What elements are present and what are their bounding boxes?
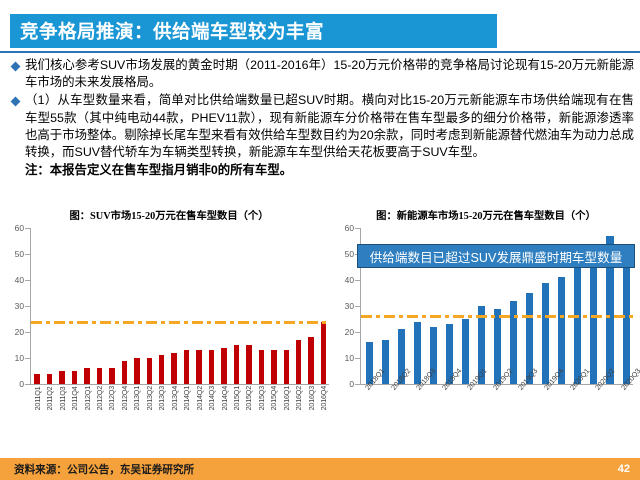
bar-column — [143, 228, 155, 384]
slide-root: 竞争格局推演：供给端车型较为丰富 我们核心参考SUV市场发展的黄金时期（2011… — [0, 0, 640, 480]
x-label-cell: 2015Q1 — [230, 386, 242, 410]
x-tick-label: 2012Q2 — [95, 386, 104, 410]
y-tick-mark — [25, 358, 30, 359]
bar-column — [205, 228, 217, 384]
x-label-cell: 2016Q3 — [305, 386, 317, 410]
x-tick-label: 2013Q3 — [157, 386, 166, 410]
bar-column — [218, 228, 230, 384]
x-label-cell: 2012Q1 — [81, 386, 93, 410]
x-axis-labels-suv: 2011Q12011Q22011Q32011Q42012Q12012Q22012… — [31, 386, 330, 410]
y-tick-mark — [25, 254, 30, 255]
x-tick-label: 2016Q2 — [294, 386, 303, 410]
note-text: 注：本报告定义在售车型指月销非0的所有车型。 — [8, 162, 634, 179]
x-label-cell: 2019Q2 — [489, 386, 515, 395]
x-label-cell: 2018Q3 — [412, 386, 438, 395]
x-label-cell: 2018Q4 — [438, 386, 464, 395]
bar-2012Q4 — [122, 361, 127, 384]
x-tick-label: 2014Q3 — [207, 386, 216, 410]
bar-2011Q2 — [47, 374, 52, 384]
bar-2011Q4 — [72, 371, 77, 384]
bar-column — [31, 228, 43, 384]
x-label-cell: 2013Q2 — [143, 386, 155, 410]
y-tick-mark — [25, 280, 30, 281]
bar-column — [93, 228, 105, 384]
bar-column — [305, 228, 317, 384]
bar-column — [293, 228, 305, 384]
x-label-cell: 2013Q1 — [131, 386, 143, 410]
bar-2012Q2 — [97, 368, 102, 384]
x-label-cell: 2016Q4 — [317, 386, 329, 410]
bar-2021Q2 — [574, 264, 581, 384]
bar-2014Q4 — [221, 348, 226, 384]
x-tick-label: 2012Q1 — [83, 386, 92, 410]
x-label-cell: 2018Q2 — [387, 386, 413, 395]
bullet-text-1: 我们核心参考SUV市场发展的黄金时期（2011-2016年）15-20万元价格带… — [25, 57, 634, 91]
x-label-cell: 2019Q4 — [540, 386, 566, 395]
footer-page-number: 42 — [618, 463, 640, 475]
slide-title-bar: 竞争格局推演：供给端车型较为丰富 — [10, 14, 497, 48]
x-tick-label: 2013Q2 — [145, 386, 154, 410]
x-tick-label: 2013Q1 — [132, 386, 141, 410]
x-label-cell: 2020Q2 — [591, 386, 617, 395]
x-label-cell: 2020Q3 — [617, 386, 640, 395]
bar-2011Q3 — [59, 371, 64, 384]
bar-column — [280, 228, 292, 384]
x-label-cell: 2020Q1 — [566, 386, 592, 395]
y-tick-label: 0 — [349, 379, 354, 389]
bar-2020Q1 — [494, 309, 501, 384]
x-label-cell: 2019Q1 — [463, 386, 489, 395]
title-divider — [0, 51, 640, 53]
x-tick-label: 2011Q4 — [70, 386, 79, 410]
x-label-cell: 2011Q3 — [56, 386, 68, 410]
y-tick-mark — [355, 306, 360, 307]
bar-2012Q1 — [84, 368, 89, 384]
bar-column — [255, 228, 267, 384]
bar-2013Q1 — [134, 358, 139, 384]
bar-2015Q4 — [271, 350, 276, 384]
bar-2019Q3 — [462, 319, 469, 384]
callout-box: 供给端数目已超过SUV发展鼎盛时期车型数量 — [357, 244, 635, 268]
bar-column — [180, 228, 192, 384]
footer-source: 资料来源：公司公告，东吴证券研究所 — [0, 462, 194, 477]
x-label-cell: 2016Q1 — [280, 386, 292, 410]
y-tick-label: 10 — [345, 353, 354, 363]
x-label-cell: 2012Q2 — [93, 386, 105, 410]
plot-nev: 供给端数目已超过SUV发展鼎盛时期车型数量 0102030405060 2018… — [334, 228, 638, 398]
y-tick-label: 50 — [15, 249, 24, 259]
x-label-cell: 2018Q1 — [361, 386, 387, 395]
x-tick-label: 2015Q4 — [269, 386, 278, 410]
y-tick-mark — [355, 358, 360, 359]
bar-2016Q1 — [284, 350, 289, 384]
x-label-cell: 2011Q2 — [43, 386, 55, 410]
x-tick-label: 2014Q4 — [220, 386, 229, 410]
bar-column — [230, 228, 242, 384]
bar-2013Q3 — [159, 355, 164, 384]
x-label-cell: 2012Q3 — [106, 386, 118, 410]
bar-2021Q3 — [590, 254, 597, 384]
x-label-cell: 2012Q4 — [118, 386, 130, 410]
bars-suv — [31, 228, 330, 384]
x-tick-label: 2015Q2 — [244, 386, 253, 410]
x-tick-label: 2014Q2 — [195, 386, 204, 410]
bar-2015Q3 — [259, 350, 264, 384]
x-tick-label: 2015Q1 — [232, 386, 241, 410]
y-tick-label: 10 — [15, 353, 24, 363]
x-tick-label: 2016Q4 — [319, 386, 328, 410]
plot-suv: 0102030405060 2011Q12011Q22011Q32011Q420… — [4, 228, 334, 398]
bar-column — [268, 228, 280, 384]
x-axis-line-suv — [30, 384, 329, 385]
bar-2016Q4 — [321, 322, 326, 384]
bar-column — [168, 228, 180, 384]
x-tick-label: 2016Q1 — [282, 386, 291, 410]
chart-title-nev: 图：新能源车市场15-20万元在售车型数目（个） — [334, 208, 638, 226]
y-tick-mark — [355, 228, 360, 229]
x-tick-label: 2011Q2 — [45, 386, 54, 410]
x-label-cell: 2014Q1 — [180, 386, 192, 410]
bar-column — [56, 228, 68, 384]
x-label-cell: 2014Q4 — [218, 386, 230, 410]
x-label-cell: 2014Q3 — [205, 386, 217, 410]
bar-2016Q2 — [296, 340, 301, 384]
y-tick-label: 20 — [345, 327, 354, 337]
bar-2014Q3 — [209, 350, 214, 384]
chart-panel-suv: 图：SUV市场15-20万元在售车型数目（个） 0102030405060 20… — [4, 208, 334, 456]
y-tick-label: 60 — [345, 223, 354, 233]
y-tick-label: 50 — [345, 249, 354, 259]
y-tick-label: 0 — [19, 379, 24, 389]
x-label-cell: 2011Q4 — [68, 386, 80, 410]
chart-title-suv: 图：SUV市场15-20万元在售车型数目（个） — [4, 208, 334, 226]
bar-2011Q1 — [34, 374, 39, 384]
page-title: 竞争格局推演：供给端车型较为丰富 — [10, 18, 324, 44]
x-label-cell: 2011Q1 — [31, 386, 43, 410]
bar-2014Q1 — [184, 350, 189, 384]
y-tick-label: 40 — [15, 275, 24, 285]
bar-column — [317, 228, 329, 384]
diamond-bullet-icon — [11, 62, 21, 72]
chart-panel-nev: 图：新能源车市场15-20万元在售车型数目（个） 供给端数目已超过SUV发展鼎盛… — [334, 208, 638, 456]
bar-2014Q2 — [196, 350, 201, 384]
x-label-cell: 2019Q3 — [514, 386, 540, 395]
y-tick-mark — [355, 332, 360, 333]
x-label-cell: 2014Q2 — [193, 386, 205, 410]
bullet-text-2: （1）从车型数量来看，简单对比供给端数量已超SUV时期。横向对比15-20万元新… — [25, 92, 634, 161]
x-label-cell: 2016Q2 — [293, 386, 305, 410]
y-tick-mark — [25, 332, 30, 333]
y-tick-mark — [25, 228, 30, 229]
bar-column — [131, 228, 143, 384]
x-tick-label: 2012Q3 — [107, 386, 116, 410]
x-label-cell: 2013Q4 — [168, 386, 180, 410]
x-tick-label: 2016Q3 — [307, 386, 316, 410]
y-tick-label: 60 — [15, 223, 24, 233]
y-tick-mark — [25, 306, 30, 307]
x-label-cell: 2015Q3 — [255, 386, 267, 410]
x-tick-label: 2011Q1 — [33, 386, 42, 410]
bar-column — [43, 228, 55, 384]
y-tick-label: 20 — [15, 327, 24, 337]
bullet-item-2: （1）从车型数量来看，简单对比供给端数量已超SUV时期。横向对比15-20万元新… — [8, 92, 634, 161]
bar-2013Q4 — [171, 353, 176, 384]
footer-bar: 资料来源：公司公告，东吴证券研究所 42 — [0, 458, 640, 480]
x-label-cell: 2015Q4 — [268, 386, 280, 410]
y-tick-label: 30 — [15, 301, 24, 311]
bullet-item-1: 我们核心参考SUV市场发展的黄金时期（2011-2016年）15-20万元价格带… — [8, 57, 634, 91]
y-tick-mark — [355, 280, 360, 281]
y-tick-label: 40 — [345, 275, 354, 285]
bar-column — [193, 228, 205, 384]
y-tick-mark — [25, 384, 30, 385]
x-tick-label: 2014Q1 — [182, 386, 191, 410]
bar-2015Q1 — [234, 345, 239, 384]
bar-column — [156, 228, 168, 384]
x-label-cell: 2013Q3 — [156, 386, 168, 410]
bar-column — [243, 228, 255, 384]
x-tick-label: 2011Q3 — [58, 386, 67, 410]
bar-column — [106, 228, 118, 384]
bar-column — [81, 228, 93, 384]
bar-2020Q4 — [542, 283, 549, 384]
bar-2016Q3 — [308, 337, 313, 384]
bar-2013Q2 — [147, 358, 152, 384]
diamond-bullet-icon — [11, 97, 21, 107]
x-label-cell: 2015Q2 — [243, 386, 255, 410]
bar-2012Q3 — [109, 368, 114, 384]
x-axis-labels-nev: 2018Q12018Q22018Q32018Q42019Q12019Q22019… — [361, 386, 634, 395]
charts-region: 图：SUV市场15-20万元在售车型数目（个） 0102030405060 20… — [0, 208, 640, 456]
bar-2018Q4 — [414, 322, 421, 384]
bar-2015Q2 — [246, 345, 251, 384]
x-tick-label: 2015Q3 — [257, 386, 266, 410]
x-tick-label: 2013Q4 — [170, 386, 179, 410]
bar-column — [68, 228, 80, 384]
y-tick-label: 30 — [345, 301, 354, 311]
y-tick-mark — [355, 384, 360, 385]
bar-2018Q2 — [382, 340, 389, 384]
body-text-block: 我们核心参考SUV市场发展的黄金时期（2011-2016年）15-20万元价格带… — [8, 57, 634, 179]
x-tick-label: 2012Q4 — [120, 386, 129, 410]
bar-column — [118, 228, 130, 384]
